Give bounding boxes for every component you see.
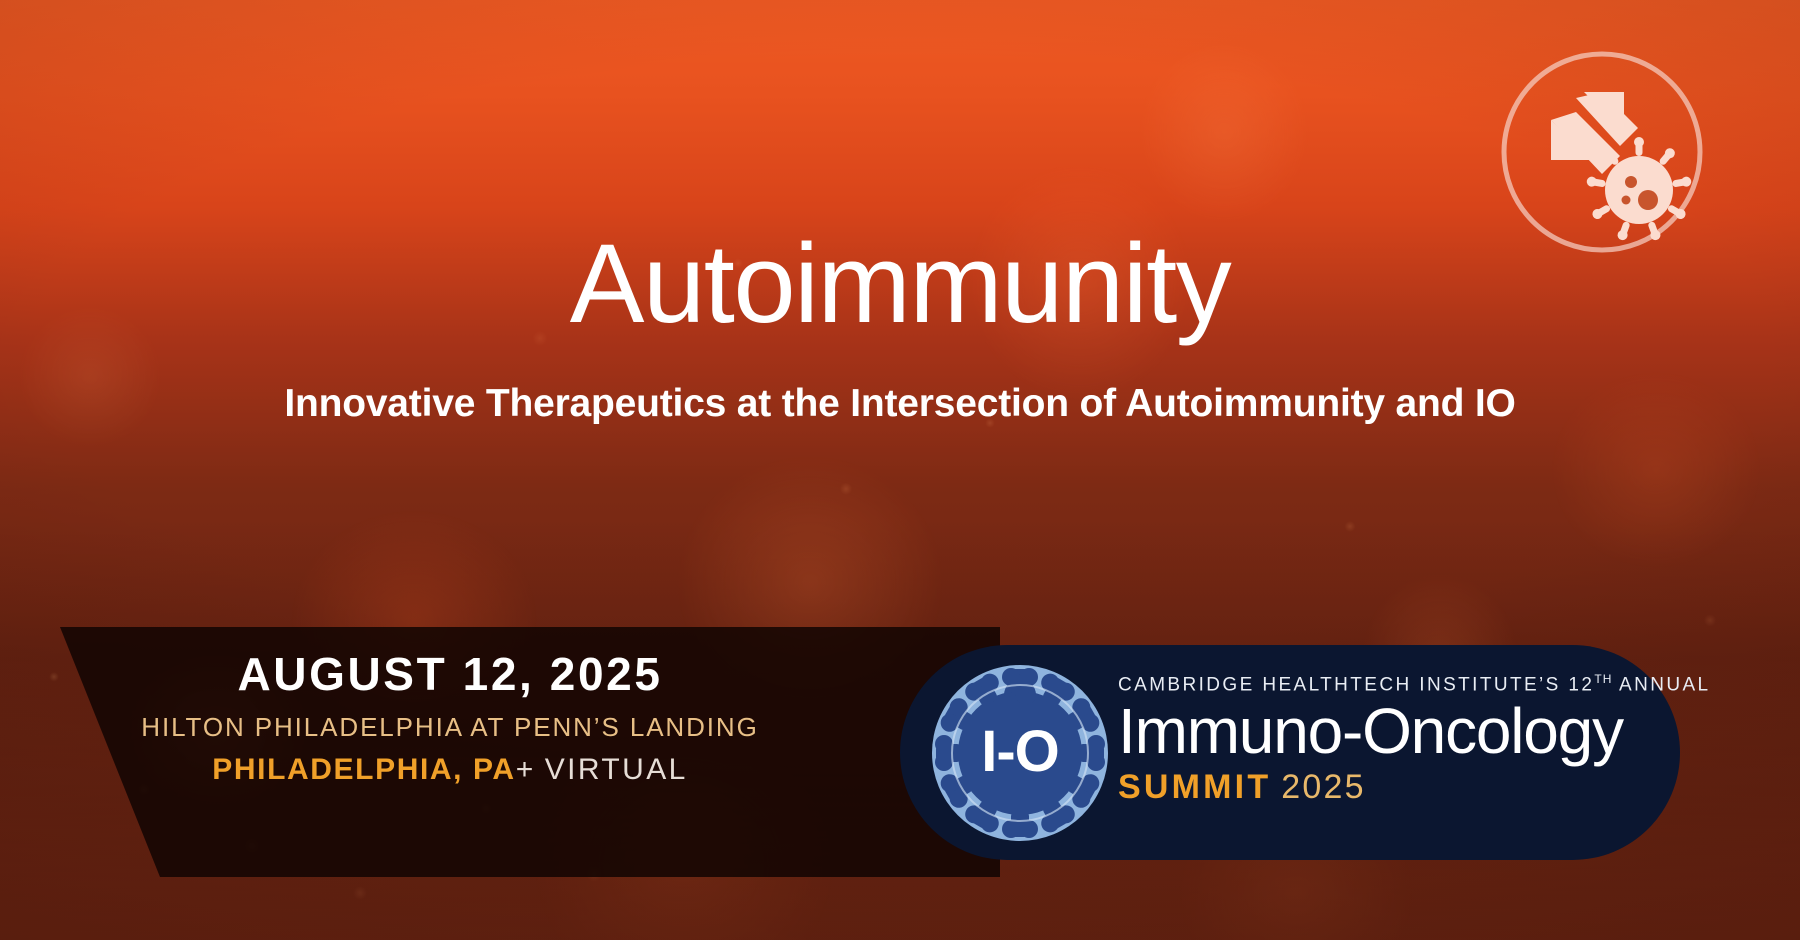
logo-text-block: CAMBRIDGE HEALTHTECH INSTITUTE’S 12TH AN… xyxy=(1118,672,1678,807)
summit-row: SUMMIT2025 xyxy=(1118,768,1678,807)
event-plus-separator: + xyxy=(516,753,535,786)
arrow-and-virus-circle-emblem xyxy=(1498,48,1706,256)
banner-title: Autoimmunity xyxy=(0,228,1800,340)
summit-label: SUMMIT xyxy=(1118,768,1271,806)
summit-year: 2025 xyxy=(1281,768,1365,806)
event-city-line: PHILADELPHIA, PA+ VIRTUAL xyxy=(140,750,760,791)
event-venue: HILTON PHILADELPHIA AT PENN’S LANDING xyxy=(140,707,760,749)
organizer-line: CAMBRIDGE HEALTHTECH INSTITUTE’S 12TH AN… xyxy=(1118,672,1678,696)
event-name: Immuno-Oncology xyxy=(1118,698,1678,765)
event-city: PHILADELPHIA, PA xyxy=(212,753,515,786)
event-virtual-label: VIRTUAL xyxy=(545,753,688,786)
conference-banner: Autoimmunity Innovative Therapeutics at … xyxy=(0,0,1800,940)
banner-subtitle: Innovative Therapeutics at the Intersect… xyxy=(0,382,1800,426)
organizer-text: CAMBRIDGE HEALTHTECH INSTITUTE’S 12 xyxy=(1118,674,1594,695)
io-mark-text: I-O xyxy=(981,719,1059,784)
virus-circle-icon: I-O xyxy=(930,663,1110,843)
organizer-ordinal-suffix: TH xyxy=(1594,672,1612,686)
event-details-block: AUGUST 12, 2025 HILTON PHILADELPHIA AT P… xyxy=(140,648,760,791)
organizer-tail: ANNUAL xyxy=(1612,674,1710,695)
event-date: AUGUST 12, 2025 xyxy=(140,648,760,701)
